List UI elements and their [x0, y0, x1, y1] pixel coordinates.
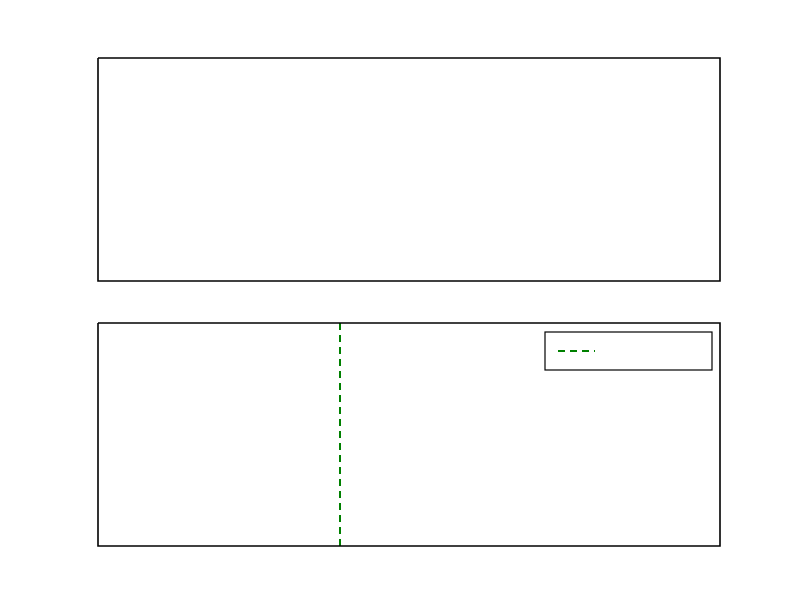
matplotlib-figure: [0, 0, 800, 600]
top-panel-frame: [98, 58, 720, 281]
legend[interactable]: [545, 332, 712, 370]
bottom-panel: [98, 323, 720, 546]
figure-canvas: [0, 0, 800, 600]
top-panel: [98, 58, 720, 281]
